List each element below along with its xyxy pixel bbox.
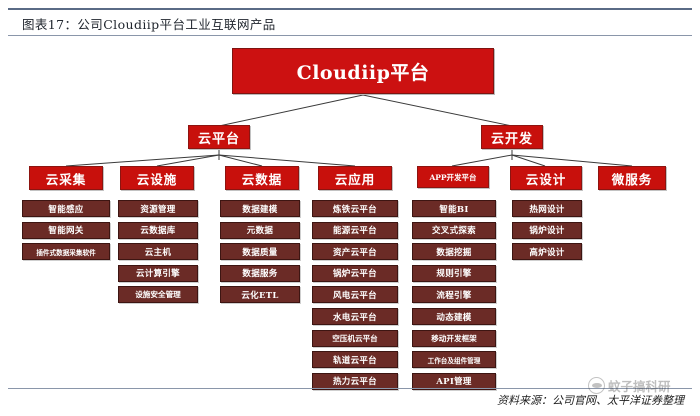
leaf-item[interactable]: 流程引擎 [412, 286, 496, 303]
watermark-logo-icon [588, 377, 605, 394]
leaf-item[interactable]: 交叉式探索 [412, 222, 496, 239]
node-head-yunyingyong-label: 云应用 [335, 169, 376, 188]
leaf-item[interactable]: 风电云平台 [312, 286, 398, 303]
node-head-yuncaiji-label: 云采集 [46, 169, 87, 188]
node-head-yunsheji[interactable]: 云设计 [510, 166, 582, 190]
leaf-item[interactable]: 智能BI [412, 200, 496, 217]
leaf-item[interactable]: 智能感应 [22, 200, 110, 217]
node-head-yunshuju[interactable]: 云数据 [225, 166, 299, 190]
leaf-item[interactable]: 智能网关 [22, 222, 110, 239]
leaf-item[interactable]: 轨道云平台 [312, 351, 398, 368]
footer-rule [8, 388, 692, 389]
leaf-item[interactable]: 数据挖掘 [412, 243, 496, 260]
node-head-yunsheshi[interactable]: 云设施 [120, 166, 194, 190]
leaf-item[interactable]: 元数据 [220, 222, 300, 239]
figure-canvas: 图表17：公司Cloudiip平台工业互联网产品 Cloudiip平台 云平台 … [0, 0, 700, 416]
node-cloud-platform-label: 云平台 [198, 128, 240, 147]
node-head-weifuwu[interactable]: 微服务 [598, 166, 666, 190]
leaf-item[interactable]: 炼铁云平台 [312, 200, 398, 217]
leaf-item[interactable]: 空压机云平台 [312, 330, 398, 347]
leaf-item[interactable]: 规则引擎 [412, 265, 496, 282]
leaf-item[interactable]: 云主机 [118, 243, 198, 260]
node-head-app-platform-label: APP开发平台 [429, 172, 476, 183]
node-head-yunshuju-label: 云数据 [242, 169, 283, 188]
leaf-item[interactable]: 云计算引擎 [118, 265, 198, 282]
leaf-item[interactable]: 数据建模 [220, 200, 300, 217]
leaf-item[interactable]: 锅炉设计 [512, 222, 582, 239]
node-root-label: Cloudiip平台 [297, 58, 430, 85]
leaf-item[interactable]: 数据质量 [220, 243, 300, 260]
leaf-item[interactable]: 工作台及组件管理 [412, 351, 496, 368]
leaf-item[interactable]: 移动开发框架 [412, 330, 496, 347]
leaf-item[interactable]: 云化ETL [220, 286, 300, 303]
leaf-item[interactable]: 能源云平台 [312, 222, 398, 239]
leaf-item[interactable]: 插件式数据采集软件 [22, 243, 110, 260]
leaf-item[interactable]: 资产云平台 [312, 243, 398, 260]
leaf-item[interactable]: 设施安全管理 [118, 286, 198, 303]
leaf-item[interactable]: 云数据库 [118, 222, 198, 239]
node-cloud-platform[interactable]: 云平台 [188, 125, 250, 149]
header-rule-bottom [8, 35, 692, 36]
leaf-item[interactable]: 锅炉云平台 [312, 265, 398, 282]
node-head-app-platform[interactable]: APP开发平台 [417, 166, 489, 188]
figure-title: 图表17：公司Cloudiip平台工业互联网产品 [22, 14, 276, 33]
leaf-item[interactable]: 热网设计 [512, 200, 582, 217]
header-rule-top [8, 8, 692, 10]
node-head-yunsheshi-label: 云设施 [137, 169, 178, 188]
node-head-yunyingyong[interactable]: 云应用 [318, 166, 392, 190]
node-head-yuncaiji[interactable]: 云采集 [29, 166, 103, 190]
leaf-item[interactable]: 水电云平台 [312, 308, 398, 325]
node-cloud-development-label: 云开发 [491, 128, 533, 147]
leaf-item[interactable]: 动态建模 [412, 308, 496, 325]
node-root[interactable]: Cloudiip平台 [232, 48, 494, 94]
leaf-item[interactable]: 数据服务 [220, 265, 300, 282]
node-head-yunsheji-label: 云设计 [526, 169, 567, 188]
node-cloud-development[interactable]: 云开发 [481, 125, 543, 149]
source-note: 资料来源：公司官网、太平洋证券整理 [497, 392, 684, 408]
leaf-item[interactable]: 高炉设计 [512, 243, 582, 260]
node-head-weifuwu-label: 微服务 [612, 169, 653, 188]
leaf-item[interactable]: 资源管理 [118, 200, 198, 217]
